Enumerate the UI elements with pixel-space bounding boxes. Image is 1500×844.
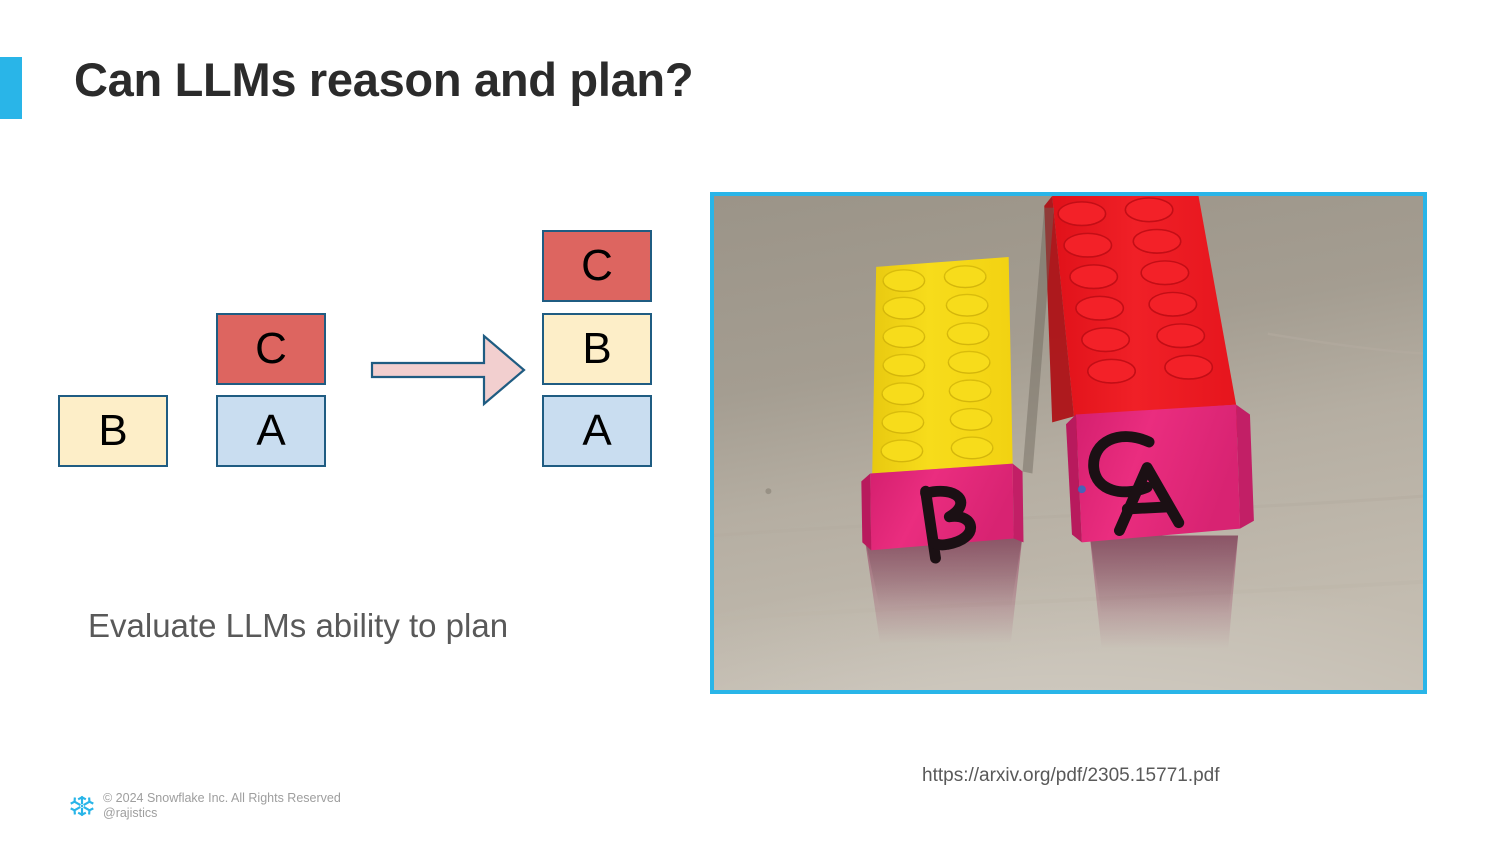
block-label: B [98,409,127,453]
right-arrow-icon [366,325,530,415]
caption-text: Evaluate LLMs ability to plan [88,607,508,645]
lego-photo [710,192,1427,694]
block-goal-c: C [542,230,652,302]
lego-photo-illustration [714,196,1423,690]
block-label: A [256,409,285,453]
blocks-world-diagram: B C A C B A [0,0,700,560]
footer-text-block: © 2024 Snowflake Inc. All Rights Reserve… [103,791,341,822]
block-goal-a: A [542,395,652,467]
block-label: B [582,327,611,371]
snowflake-logo-icon [70,794,94,818]
source-url-text[interactable]: https://arxiv.org/pdf/2305.15771.pdf [922,765,1220,787]
block-goal-b: B [542,313,652,385]
block-label: C [255,327,287,371]
block-initial-c: C [216,313,326,385]
footer: © 2024 Snowflake Inc. All Rights Reserve… [70,791,341,822]
block-label: C [581,244,613,288]
block-initial-b: B [58,395,168,467]
block-label: A [582,409,611,453]
footer-handle: @rajistics [103,806,341,821]
block-initial-a: A [216,395,326,467]
footer-copyright: © 2024 Snowflake Inc. All Rights Reserve… [103,791,341,806]
